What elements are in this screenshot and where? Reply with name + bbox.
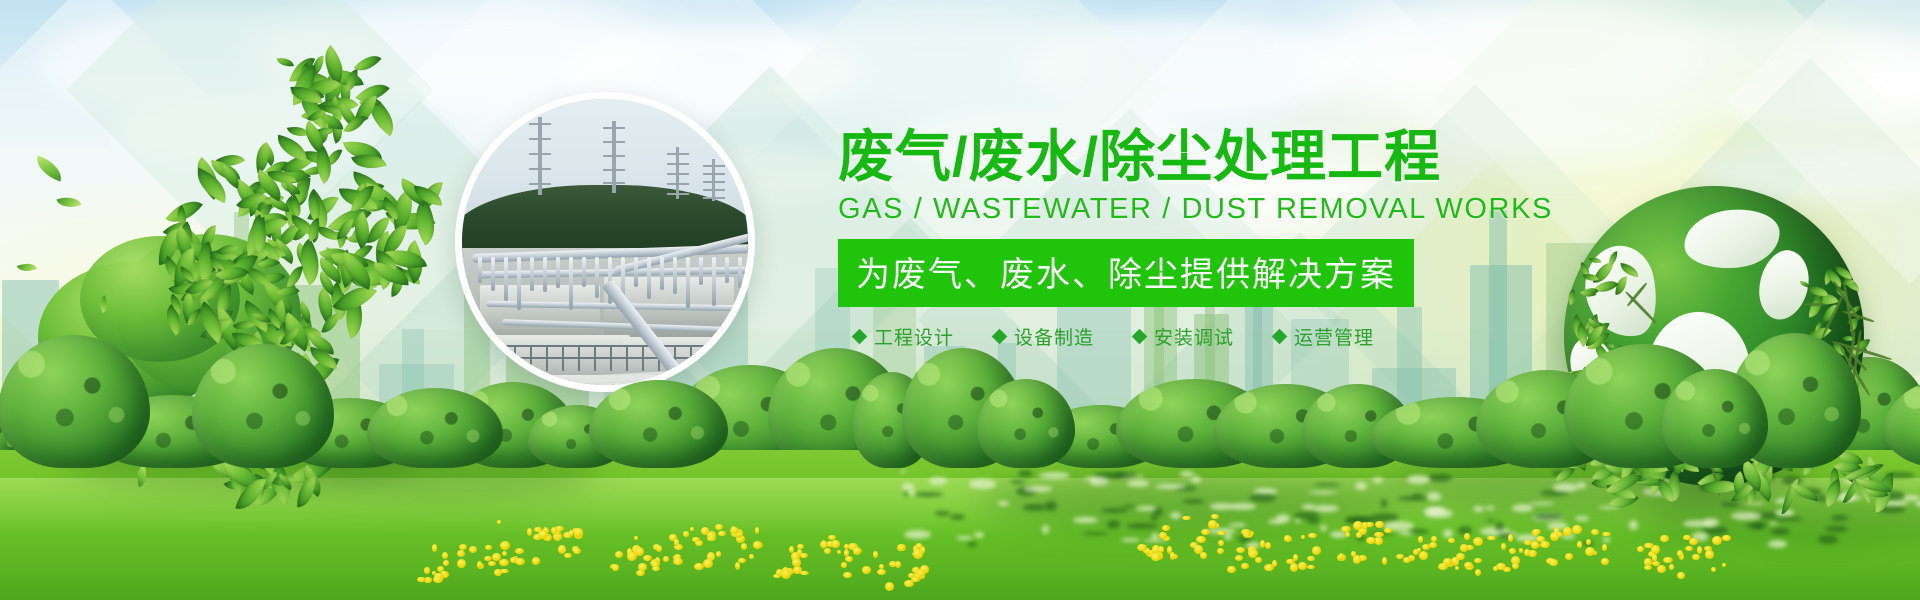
grass-clipping [1039,472,1070,479]
tower-crossarm [703,165,725,167]
pipe-support [556,257,560,288]
tower-crossarm [667,183,689,185]
flower [749,554,754,559]
flower [1652,554,1657,562]
flower [1531,541,1539,548]
feature-item[interactable]: 安装调试 [1134,323,1234,350]
grass-clipping [1151,515,1159,520]
flower [1572,525,1581,534]
transmission-tower [712,159,715,201]
grass-clipping [1294,512,1319,519]
flower [1353,521,1363,530]
eco-engineering-banner: 废气/废水/除尘处理工程 GAS / WASTEWATER / DUST REM… [0,0,1920,600]
tower-crossarm [603,155,625,157]
flower [1293,554,1298,561]
globe-vine [1804,303,1826,306]
railing-rail [480,345,744,347]
flower [913,549,923,558]
tower-crossarm [703,181,725,183]
pipe-support [699,257,703,285]
flower [1158,546,1164,553]
flower [1448,538,1455,544]
grass-clipping [1073,517,1097,524]
flower [1227,566,1236,573]
grass-clipping [974,532,984,538]
grass-clipping [1412,494,1423,498]
tower-crossarm [667,193,689,195]
flower [1712,536,1722,545]
transmission-tower [676,147,679,199]
flower [1429,542,1437,548]
grass-clipping [967,542,976,547]
grass-clipping [1229,523,1246,527]
diamond-bullet-icon [1272,329,1288,345]
pipe-support [725,257,729,283]
grass-clipping [1534,513,1563,520]
flower [1524,549,1530,556]
grass-clipping [1268,519,1283,524]
flower [1217,531,1225,536]
flower [1413,549,1420,555]
flower [716,551,722,557]
flower [718,531,725,537]
tower-crossarm [667,163,689,165]
pipe-support [517,257,521,310]
flower [424,567,429,575]
flower [1496,563,1506,570]
flower [1509,548,1517,554]
flower [1663,557,1673,564]
flower [515,558,525,565]
grass-clipping [1575,516,1589,521]
flower [1345,532,1350,537]
flower [1677,550,1683,557]
flower [1550,532,1559,541]
flower [831,540,839,548]
flower [1366,537,1376,544]
flower [612,565,619,571]
tower-crossarm [667,173,689,175]
grass-clipping [1768,540,1787,547]
flower [1137,544,1147,551]
grass-clipping [1683,520,1713,527]
flower [457,559,466,568]
pipe-support [647,257,651,299]
flower [1236,547,1245,553]
leaf [306,218,323,242]
feature-label: 安装调试 [1154,323,1234,350]
feature-label: 设备制造 [1014,323,1094,350]
flower [1722,535,1730,541]
grass-clipping [969,479,996,489]
flower [1475,569,1481,576]
grass-clipping [935,511,950,515]
flower [1196,536,1206,543]
flower [916,543,923,549]
flower [488,561,496,566]
flower [1644,558,1652,566]
flower [738,558,746,563]
flower [715,524,723,530]
leaf [277,56,294,68]
flower [1162,525,1170,531]
flower [1218,540,1224,546]
tower-crossarm [603,127,625,129]
flower [1308,533,1317,538]
flower [1403,557,1411,563]
flower [885,582,894,591]
flower [1692,554,1700,560]
grass-clipping [1381,499,1387,507]
grass-clipping [1121,538,1140,542]
tower-crossarm [603,169,625,171]
flower [1705,550,1714,559]
tower-crossarm [529,153,551,155]
flower [432,544,437,552]
flower [1298,562,1307,571]
tower-crossarm [603,141,625,143]
pipe-support [491,257,495,291]
flower [877,569,886,575]
grass-clipping [1831,515,1847,521]
banner-text-block: 废气/废水/除尘处理工程 GAS / WASTEWATER / DUST REM… [838,128,1478,350]
grass-clipping [1355,482,1367,490]
grass-clipping [900,470,906,473]
grass-clipping [1010,480,1025,484]
transmission-tower [612,121,616,193]
grass-clipping [1308,491,1337,494]
flower [1264,564,1274,571]
grass-clipping [1427,492,1441,501]
feature-item[interactable]: 运营管理 [1274,323,1374,350]
flower [573,548,581,554]
flower [707,536,716,541]
flower [1384,528,1392,533]
pipe-support [673,257,677,294]
tower-crossarm [529,183,551,185]
flower [1248,549,1258,558]
flower [1563,527,1572,536]
page-title: 废气/废水/除尘处理工程 [838,128,1478,185]
flower [904,580,914,587]
slogan-bar: 为废气、废水、除尘提供解决方案 [838,239,1414,307]
flower [789,546,794,553]
flower [417,577,425,582]
grass-clipping [1107,520,1120,529]
flower [1601,558,1609,564]
grass-clipping [1424,507,1446,514]
flower [515,548,524,554]
feature-list: 工程设计设备制造安装调试运营管理 [838,323,1478,350]
flower [574,528,583,537]
page-subtitle: GAS / WASTEWATER / DUST REMOVAL WORKS [838,193,1478,226]
grass-clipping [1183,499,1204,503]
flower [500,569,509,574]
grass-clipping [1191,476,1201,483]
flower [651,562,660,567]
grass-clipping [1771,528,1790,535]
flower [499,559,509,566]
flower [1585,547,1595,556]
grass-clipping [1428,474,1452,482]
diamond-bullet-icon [992,329,1008,345]
flower [897,544,905,550]
flower [862,566,870,574]
flower [843,572,852,578]
grass-clipping [1170,512,1181,518]
tower-crossarm [529,138,551,140]
flower [1418,536,1423,544]
flower [634,536,638,540]
feature-item[interactable]: 设备制造 [994,323,1094,350]
flower [1159,532,1167,538]
flower [1602,544,1607,551]
wastewater-plant-photo [455,92,755,392]
flower [1284,535,1292,541]
flower [1487,536,1496,541]
leaf [353,49,381,78]
grass-clipping [1731,512,1761,520]
grass-clipping [1045,501,1057,511]
tower-crossarm [703,197,725,199]
flower [1644,543,1653,548]
flower [703,559,713,568]
grass-clipping [1529,502,1555,505]
feature-item[interactable]: 工程设计 [854,323,954,350]
flower [853,547,862,554]
pipe-support [543,257,547,292]
slogan-text: 为废气、废水、除尘提供解决方案 [856,256,1396,294]
tower-crossarm [529,123,551,125]
flower [1151,553,1160,562]
pipe-support [738,257,742,288]
flower [1540,541,1550,548]
pipe-support [660,257,664,290]
pipe-support [634,257,638,287]
flower [1532,529,1541,534]
tower-crossarm [603,182,625,184]
flower [1208,520,1218,529]
grass-clipping [1721,502,1739,506]
pipe-support [478,257,482,283]
flower [558,545,567,554]
transmission-tower [538,117,542,195]
flower [1375,521,1383,529]
flower [753,541,762,548]
tower-crossarm [667,153,689,155]
flower [873,551,878,558]
grass-clipping [1320,525,1327,531]
diamond-bullet-icon [852,329,868,345]
flower [497,520,501,524]
flower [1241,563,1248,569]
flower [1255,557,1262,563]
grass-clipping [1127,480,1149,487]
feature-label: 工程设计 [874,323,954,350]
grass-clipping [1754,523,1762,530]
flower [841,562,848,568]
tree [977,379,1075,468]
grass-clipping [904,530,931,539]
flower [1374,532,1383,537]
flower [538,530,548,539]
flower [1637,546,1644,552]
tower-crossarm [703,173,725,175]
pipe-support [530,257,534,291]
flower [1711,567,1716,572]
railing-rail [480,357,744,359]
flower [1512,563,1519,569]
leaf [287,265,303,288]
grass-clipping [998,501,1009,505]
grass-clipping [1495,522,1503,532]
pipe-support [582,257,586,287]
grass-clipping [956,536,973,540]
grass-clipping [1122,505,1135,508]
flower [627,552,637,561]
flower [484,556,492,561]
tower-crossarm [529,168,551,170]
flower [437,566,445,572]
flower [527,528,532,536]
flower [1301,535,1305,539]
tower-crossarm [703,189,725,191]
flower [1501,543,1506,550]
leaf-man-part [148,214,243,330]
flower [532,557,540,564]
flower [692,537,700,542]
flower [443,560,449,566]
flower [1644,565,1652,570]
pipe-support [595,257,599,298]
pipe-support [712,257,716,306]
flower [1591,529,1599,535]
grass-clipping [1180,471,1194,477]
flower [457,550,465,558]
grass-clipping [1114,472,1136,478]
flower [1217,548,1224,554]
flower [1464,533,1469,541]
flower [824,548,832,554]
flower [1508,534,1513,542]
flower [1464,562,1473,568]
grass-clipping [1042,525,1049,534]
pipe-support [504,257,508,301]
pipe-support [686,257,690,308]
flower [1565,553,1573,561]
flower [433,576,443,583]
diamond-bullet-icon [1132,329,1148,345]
flower [1460,544,1468,551]
grass-clipping [1024,486,1052,492]
flower [828,535,836,540]
cloud [1020,18,1350,118]
grass-clipping [1312,505,1339,512]
pipe-support [569,257,573,310]
grass-clipping [1228,503,1256,510]
flower [1211,514,1219,519]
flower [701,527,709,534]
grass-clipping [1629,520,1638,530]
flower [1549,559,1559,566]
feature-label: 运营管理 [1294,323,1374,350]
flower [741,543,747,550]
grass-clipping [1512,504,1533,512]
